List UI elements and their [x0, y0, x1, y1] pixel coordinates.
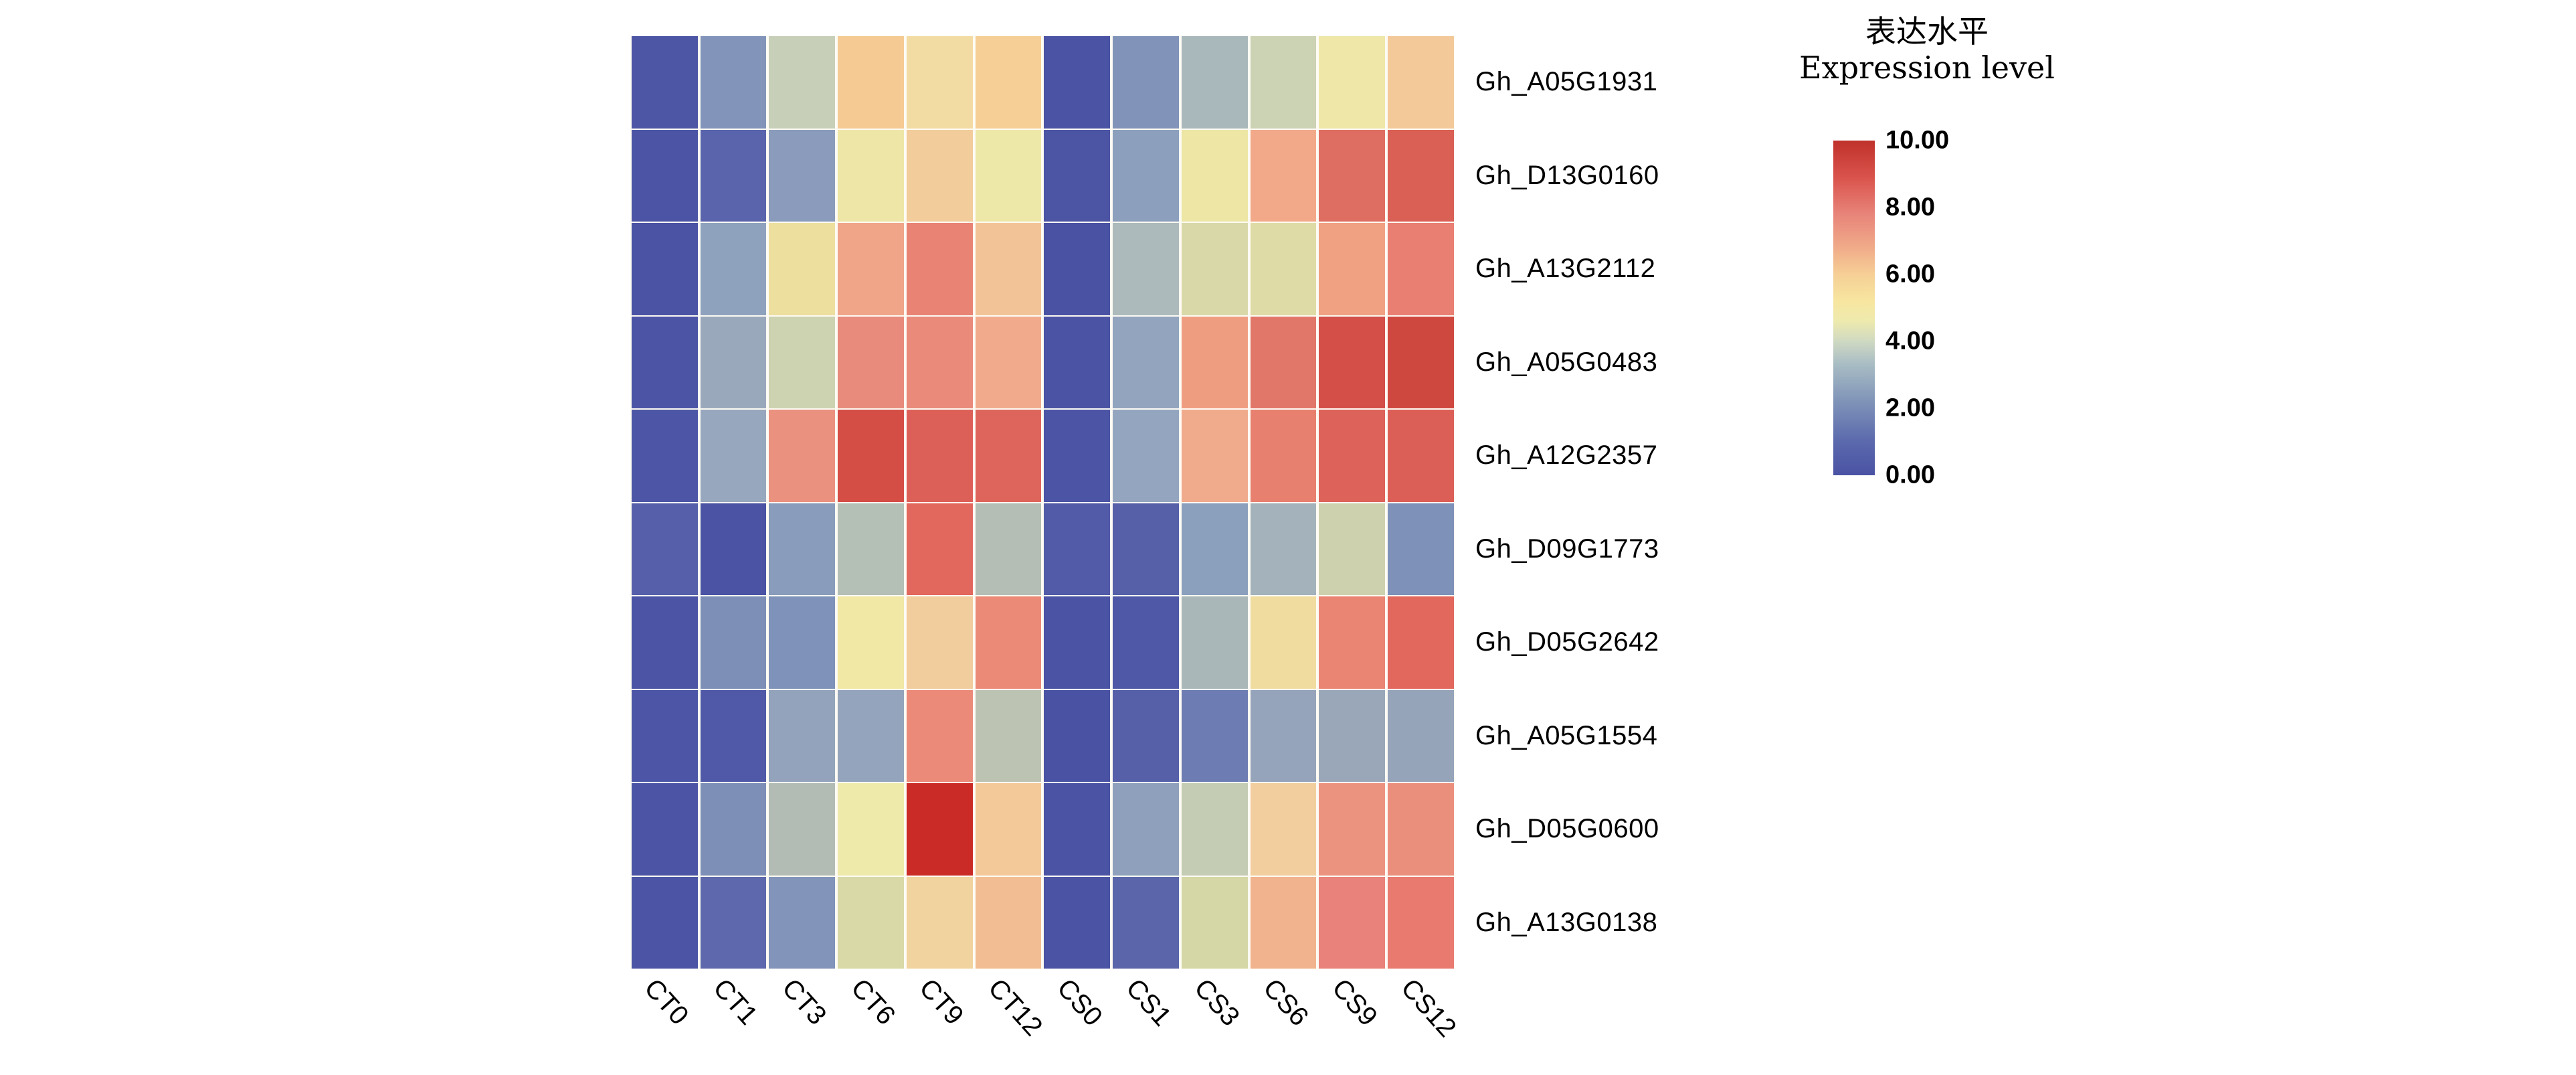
row-label: Gh_A13G0138 [1475, 876, 1756, 970]
heatmap-cell [767, 129, 836, 223]
heatmap-cell [836, 316, 905, 410]
heatmap-row [630, 222, 1455, 316]
heatmap-cell [699, 876, 768, 970]
heatmap-cell [905, 596, 974, 689]
heatmap-row [630, 129, 1455, 223]
heatmap-cell [1111, 35, 1180, 129]
column-label: CT9 [913, 973, 970, 1031]
heatmap-cell [1042, 689, 1111, 783]
colorbar-tick-label: 2.00 [1885, 394, 1935, 423]
column-label: CS3 [1188, 973, 1246, 1032]
column-label-slot: CS9 [1318, 969, 1387, 1070]
colorbar-tick-label: 10.00 [1885, 127, 1949, 155]
heatmap-cell [630, 596, 699, 689]
heatmap-cell [1317, 689, 1386, 783]
heatmap-cell [1042, 35, 1111, 129]
heatmap-cell [974, 596, 1043, 689]
heatmap-cell [1386, 35, 1455, 129]
colorbar-tick-label: 8.00 [1885, 193, 1935, 222]
heatmap-cell [1386, 129, 1455, 223]
legend-title-chinese: 表达水平 [1740, 13, 2114, 50]
heatmap-cell [836, 409, 905, 503]
heatmap-cell [699, 409, 768, 503]
heatmap-cell [1111, 316, 1180, 410]
heatmap-cell [767, 782, 836, 876]
column-label-slot: CT1 [699, 969, 768, 1070]
heatmap-cell [630, 782, 699, 876]
heatmap-cell [1180, 876, 1249, 970]
heatmap-cell [905, 222, 974, 316]
column-label: CT1 [707, 973, 763, 1031]
heatmap-cell [974, 876, 1043, 970]
heatmap-cell [974, 503, 1043, 596]
heatmap-row [630, 596, 1455, 689]
heatmap-row [630, 316, 1455, 410]
heatmap-cell [1111, 503, 1180, 596]
heatmap-cell [905, 503, 974, 596]
heatmap-cell [1386, 876, 1455, 970]
heatmap-row [630, 409, 1455, 503]
column-label-axis: CT0CT1CT3CT6CT9CT12CS0CS1CS3CS6CS9CS12 [630, 969, 1455, 1070]
heatmap-cell [836, 876, 905, 970]
heatmap-cell [1180, 782, 1249, 876]
column-label: CT12 [982, 973, 1048, 1042]
heatmap-cell [630, 689, 699, 783]
heatmap-cell [630, 409, 699, 503]
heatmap-cell [699, 222, 768, 316]
row-label: Gh_D09G1773 [1475, 503, 1756, 596]
heatmap-cell [1386, 409, 1455, 503]
heatmap-cell [1317, 876, 1386, 970]
legend-title: 表达水平 Expression level [1740, 13, 2114, 86]
heatmap-cell [767, 222, 836, 316]
heatmap-row [630, 503, 1455, 596]
heatmap-cell [836, 35, 905, 129]
colorbar-gradient [1833, 141, 1875, 475]
heatmap-cell [1386, 503, 1455, 596]
heatmap-cell [1249, 316, 1318, 410]
heatmap-cell [767, 503, 836, 596]
heatmap-cell [699, 316, 768, 410]
heatmap-cell [1042, 409, 1111, 503]
heatmap-cell [1386, 782, 1455, 876]
column-label-slot: CT0 [630, 969, 699, 1070]
expression-heatmap-figure: Gh_A05G1931Gh_D13G0160Gh_A13G2112Gh_A05G… [0, 0, 2576, 1075]
row-label-axis: Gh_A05G1931Gh_D13G0160Gh_A13G2112Gh_A05G… [1475, 35, 1756, 969]
heatmap-row [630, 876, 1455, 970]
heatmap-cell [836, 222, 905, 316]
heatmap-cell [699, 129, 768, 223]
heatmap-cell [630, 876, 699, 970]
column-label: CS1 [1119, 973, 1177, 1032]
column-label: CS6 [1257, 973, 1315, 1032]
heatmap-cell [905, 35, 974, 129]
heatmap-cell [836, 689, 905, 783]
heatmap-cell [905, 689, 974, 783]
heatmap-row [630, 35, 1455, 129]
row-label: Gh_D05G2642 [1475, 596, 1756, 689]
heatmap-cell [1317, 129, 1386, 223]
heatmap-grid [630, 35, 1455, 969]
heatmap-cell [1249, 129, 1318, 223]
heatmap-cell [1249, 35, 1318, 129]
heatmap-cell [699, 596, 768, 689]
heatmap-cell [1249, 596, 1318, 689]
column-label-slot: CT9 [905, 969, 974, 1070]
heatmap-cell [1180, 129, 1249, 223]
heatmap-cell [767, 689, 836, 783]
heatmap-cell [1180, 409, 1249, 503]
heatmap-cell [905, 409, 974, 503]
heatmap-cell [1042, 222, 1111, 316]
heatmap-cell [1042, 596, 1111, 689]
heatmap-cell [767, 316, 836, 410]
column-label-slot: CS1 [1111, 969, 1180, 1070]
heatmap-cell [974, 409, 1043, 503]
heatmap-row [630, 782, 1455, 876]
heatmap-cell [1180, 35, 1249, 129]
heatmap-cell [630, 129, 699, 223]
heatmap-cell [1042, 316, 1111, 410]
heatmap-cell [974, 689, 1043, 783]
column-label-slot: CT12 [974, 969, 1043, 1070]
heatmap-cell [974, 782, 1043, 876]
legend: 表达水平 Expression level 10.008.006.004.002… [1740, 13, 2114, 495]
heatmap-cell [1180, 503, 1249, 596]
heatmap-cell [699, 689, 768, 783]
heatmap-cell [974, 316, 1043, 410]
heatmap-cell [836, 503, 905, 596]
heatmap-cell [1317, 222, 1386, 316]
column-label: CT3 [775, 973, 832, 1031]
heatmap-cell [1111, 596, 1180, 689]
row-label: Gh_A12G2357 [1475, 409, 1756, 503]
column-label-slot: CS3 [1180, 969, 1249, 1070]
column-label-slot: CT6 [836, 969, 905, 1070]
heatmap-cell [1386, 596, 1455, 689]
heatmap-cell [1317, 316, 1386, 410]
heatmap-cell [1111, 876, 1180, 970]
heatmap-cell [630, 316, 699, 410]
heatmap-cell [1249, 689, 1318, 783]
colorbar-tick-label: 0.00 [1885, 461, 1935, 490]
heatmap-cell [1042, 129, 1111, 223]
column-label-slot: CS0 [1043, 969, 1112, 1070]
heatmap-cell [1042, 782, 1111, 876]
heatmap-cell [974, 222, 1043, 316]
column-label: CT0 [638, 973, 695, 1031]
legend-title-english: Expression level [1740, 50, 2114, 86]
heatmap-cell [1111, 409, 1180, 503]
heatmap-cell [1111, 689, 1180, 783]
column-label: CS12 [1394, 973, 1461, 1043]
heatmap-cell [1180, 689, 1249, 783]
heatmap-cell [1180, 596, 1249, 689]
heatmap-cell [1249, 409, 1318, 503]
heatmap-cell [1386, 689, 1455, 783]
heatmap-cell [1249, 222, 1318, 316]
heatmap-row [630, 689, 1455, 783]
column-label: CS0 [1050, 973, 1108, 1032]
heatmap-cell [1111, 782, 1180, 876]
heatmap-cell [974, 129, 1043, 223]
row-label: Gh_A05G0483 [1475, 316, 1756, 410]
heatmap-cell [767, 876, 836, 970]
row-label: Gh_D13G0160 [1475, 129, 1756, 223]
heatmap-cell [1180, 316, 1249, 410]
column-label-slot: CS12 [1386, 969, 1455, 1070]
heatmap-cell [905, 316, 974, 410]
heatmap-cell [1317, 782, 1386, 876]
heatmap-cell [836, 782, 905, 876]
heatmap-cell [1042, 876, 1111, 970]
row-label: Gh_A05G1931 [1475, 35, 1756, 129]
row-label: Gh_A13G2112 [1475, 222, 1756, 316]
heatmap-cell [1386, 316, 1455, 410]
heatmap-cell [767, 409, 836, 503]
heatmap-cell [836, 129, 905, 223]
column-label-slot: CT3 [768, 969, 837, 1070]
column-label: CT6 [844, 973, 901, 1031]
row-label: Gh_D05G0600 [1475, 782, 1756, 876]
colorbar-tick-label: 6.00 [1885, 260, 1935, 289]
heatmap-cell [1249, 503, 1318, 596]
heatmap-cell [905, 129, 974, 223]
heatmap-cell [699, 503, 768, 596]
heatmap-cell [630, 222, 699, 316]
heatmap-cell [699, 35, 768, 129]
colorbar-tick-label: 4.00 [1885, 327, 1935, 356]
heatmap-cell [1317, 409, 1386, 503]
heatmap-cell [1317, 35, 1386, 129]
column-label: CS9 [1325, 973, 1383, 1032]
heatmap-cell [1111, 129, 1180, 223]
heatmap-cell [1249, 876, 1318, 970]
heatmap-cell [767, 596, 836, 689]
heatmap-cell [974, 35, 1043, 129]
heatmap-cell [1180, 222, 1249, 316]
row-label: Gh_A05G1554 [1475, 689, 1756, 783]
heatmap-cell [630, 503, 699, 596]
heatmap-cell [905, 782, 974, 876]
heatmap-cell [905, 876, 974, 970]
heatmap-cell [767, 35, 836, 129]
column-label-slot: CS6 [1249, 969, 1318, 1070]
heatmap-cell [1249, 782, 1318, 876]
heatmap-cell [630, 35, 699, 129]
heatmap-cell [1317, 596, 1386, 689]
heatmap-cell [699, 782, 768, 876]
heatmap-cell [1317, 503, 1386, 596]
heatmap-cell [1042, 503, 1111, 596]
heatmap-cell [1386, 222, 1455, 316]
heatmap-cell [836, 596, 905, 689]
heatmap-cell [1111, 222, 1180, 316]
